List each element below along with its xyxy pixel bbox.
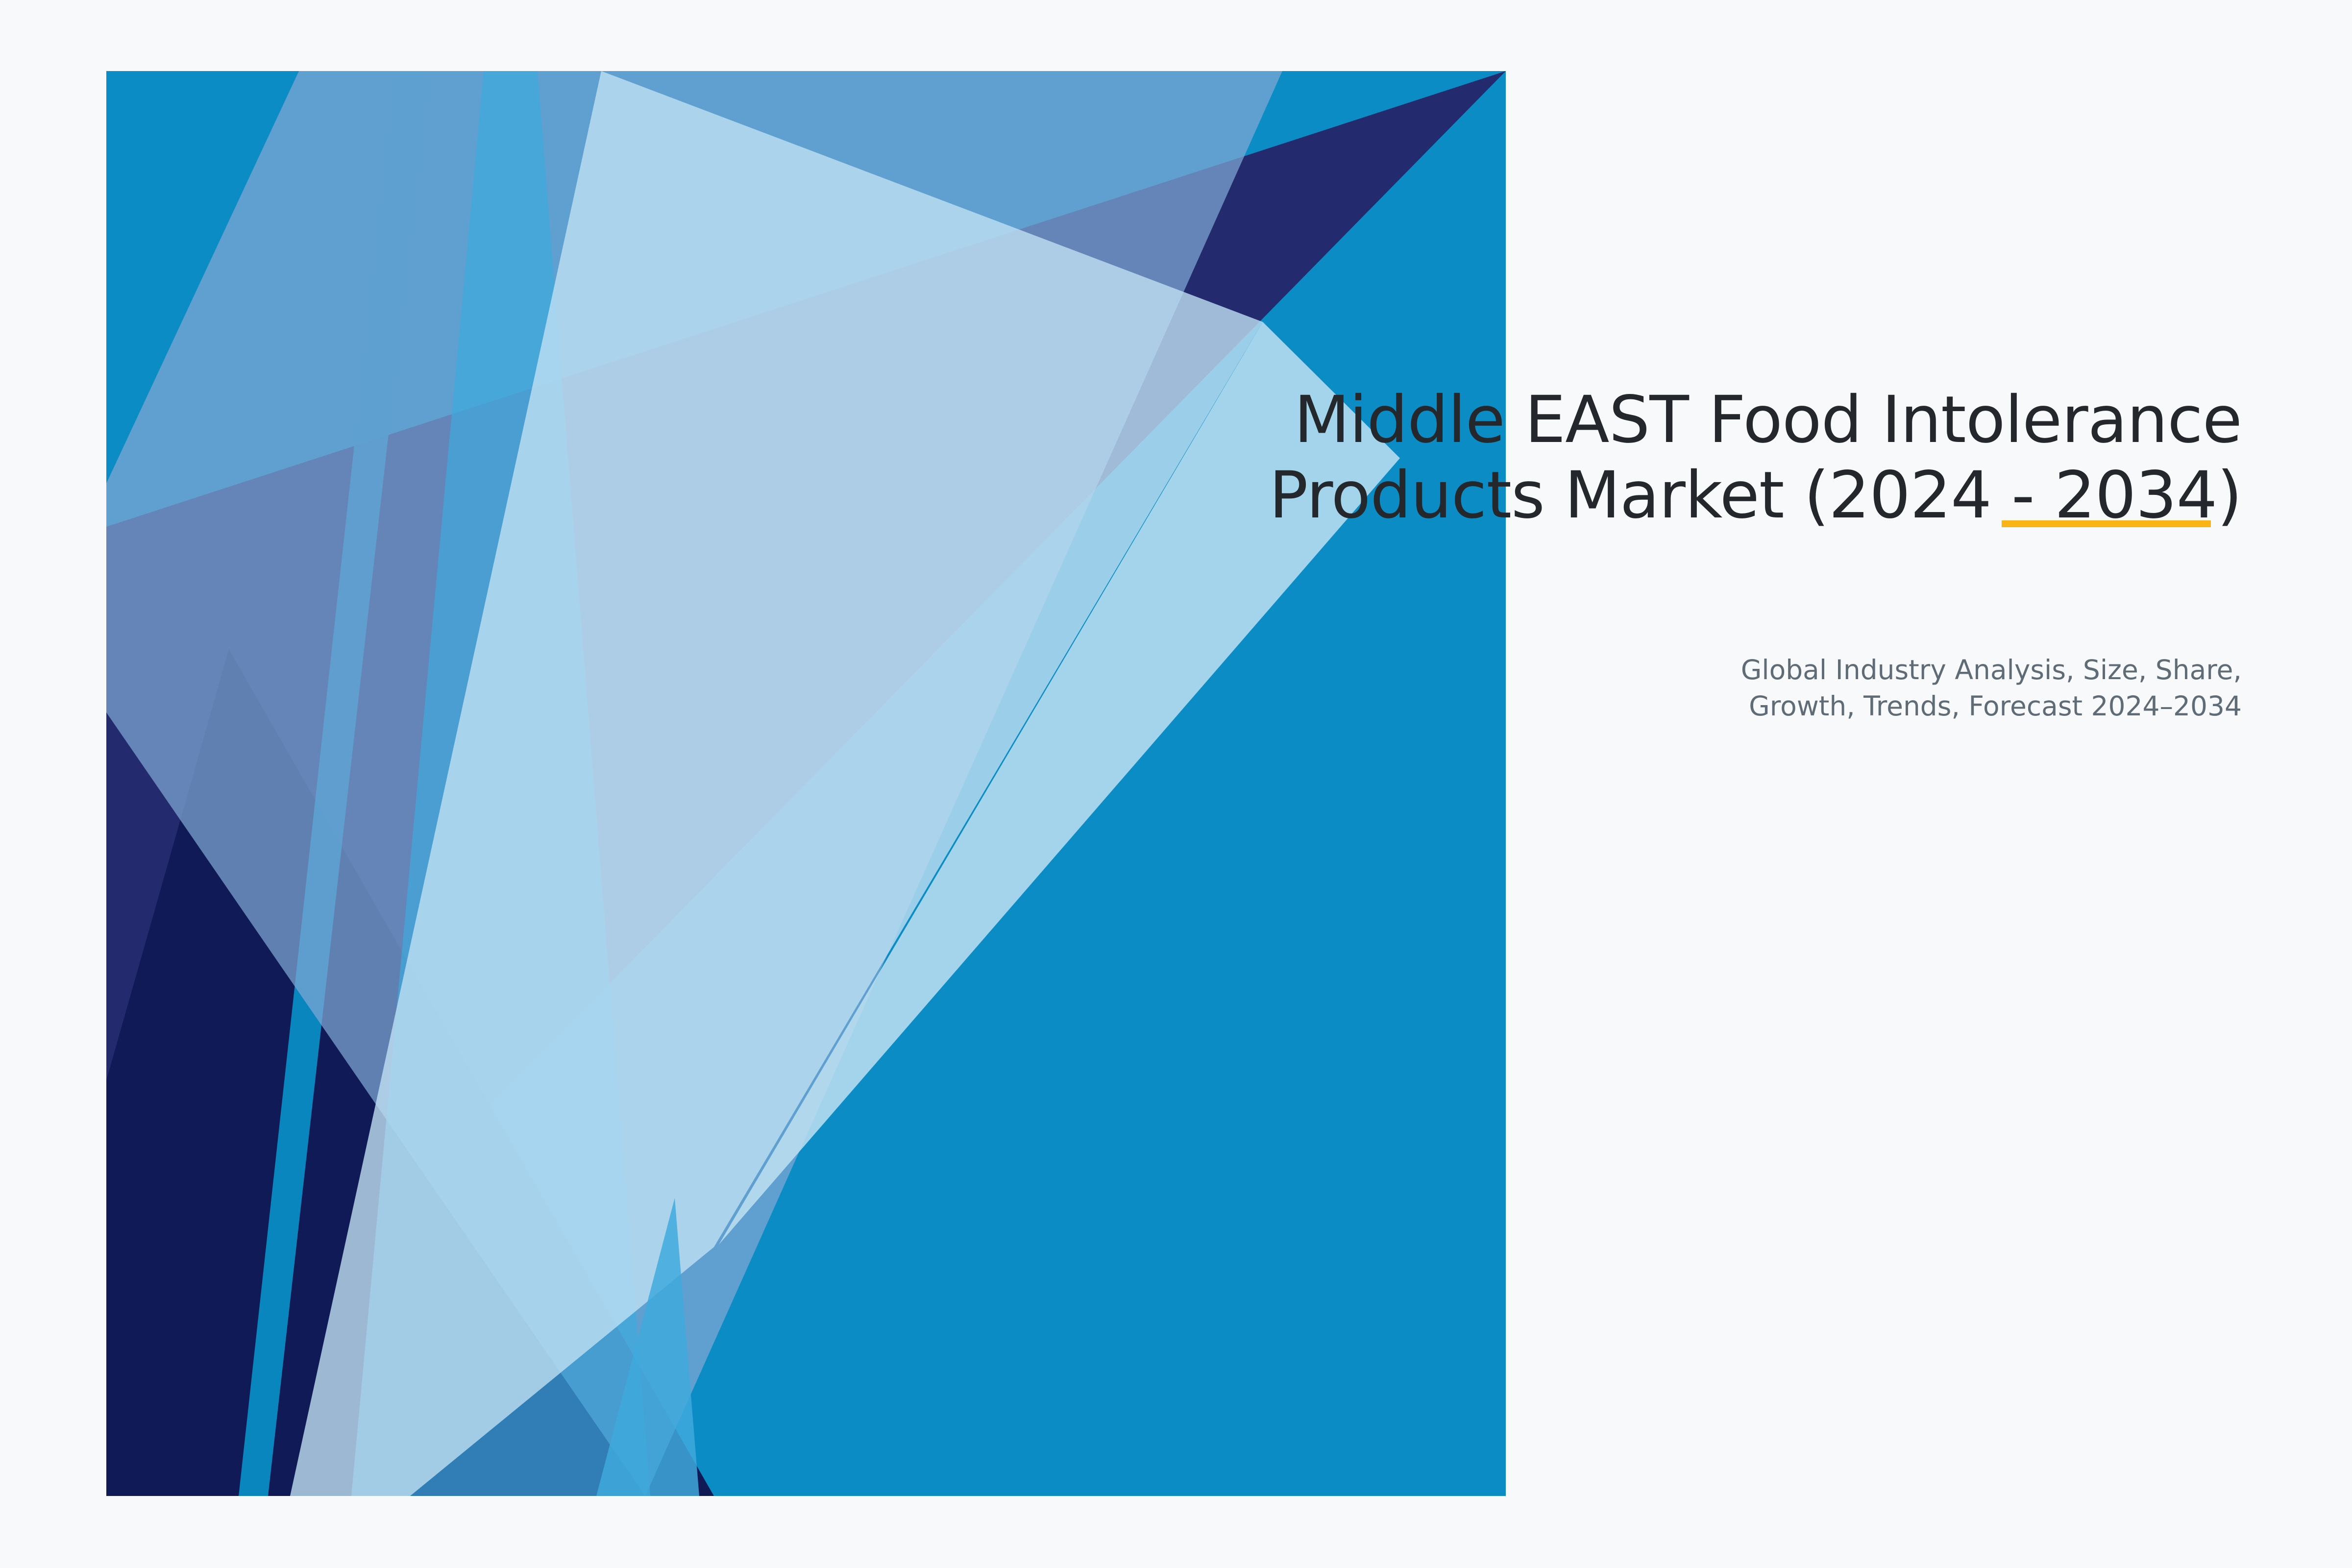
page-subtitle: Global Industry Analysis, Size, Share, G…: [1323, 652, 2242, 725]
cover-page: Middle EAST Food Intolerance Products Ma…: [0, 0, 2352, 1568]
subtitle-block: Global Industry Analysis, Size, Share, G…: [1323, 652, 2242, 725]
page-title: Middle EAST Food Intolerance Products Ma…: [1078, 382, 2242, 534]
title-block: Middle EAST Food Intolerance Products Ma…: [1078, 382, 2242, 534]
abstract-polygon-graphic: [106, 71, 1506, 1496]
artwork-svg: [106, 71, 1506, 1496]
